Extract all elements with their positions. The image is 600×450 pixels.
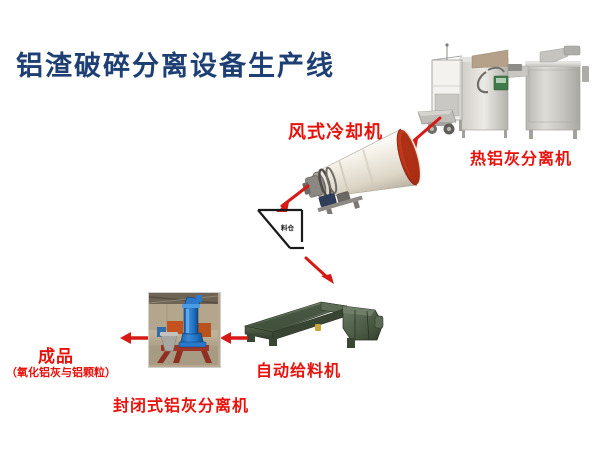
feeder-svg [243, 288, 389, 358]
closed-separator-svg [149, 293, 218, 365]
hopper-label: 料仓 [281, 222, 294, 232]
hot-separator-svg [416, 36, 600, 140]
hopper-shape [256, 206, 312, 258]
arrow-separator-to-product [120, 328, 150, 348]
rotary-cooler-machine-image [300, 128, 436, 214]
page-title: 铝渣破碎分离设备生产线 [16, 44, 335, 83]
label-hot-separator: 热铝灰分离机 [470, 145, 572, 169]
label-feeder: 自动给料机 [256, 357, 341, 381]
production-line-diagram: 铝渣破碎分离设备生产线 [0, 0, 600, 450]
cooler-svg [300, 128, 436, 214]
label-closed-separator: 封闭式铝灰分离机 [113, 392, 249, 416]
hot-separator-machine-image [416, 36, 600, 140]
label-product-subtitle: （氧化铝灰与铝颗粒） [6, 364, 116, 380]
automatic-feeder-machine-image [243, 288, 389, 358]
closed-separator-machine-image [148, 292, 221, 368]
